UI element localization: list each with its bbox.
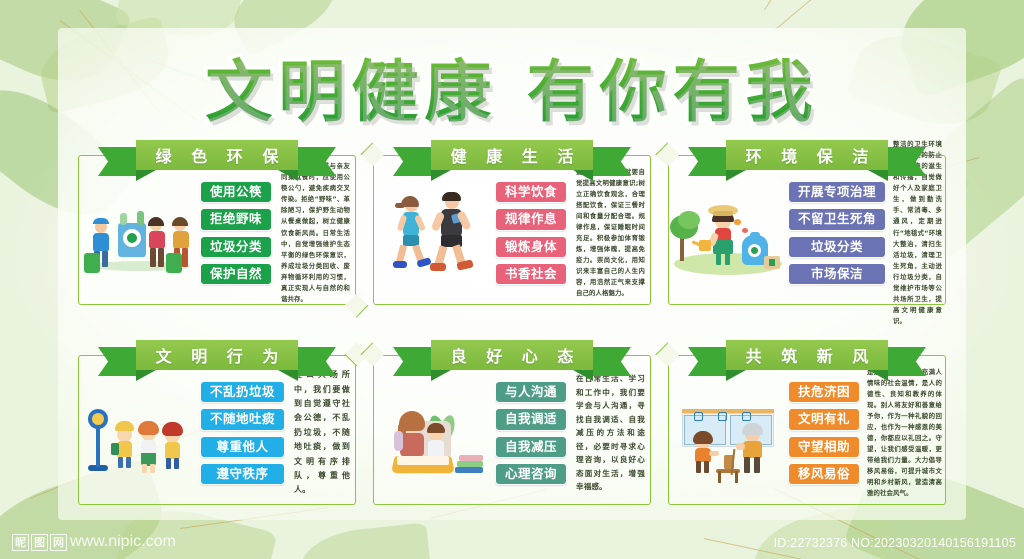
- ribbon-band: 良 好 心 态: [431, 340, 593, 370]
- ribbon-good-mindset: 良 好 心 态: [393, 340, 631, 376]
- children-queueing-icon: [84, 385, 196, 481]
- ribbon-band: 绿 色 环 保: [136, 140, 298, 170]
- ribbon-band: 环 境 保 洁: [726, 140, 888, 170]
- running-couple-icon: [379, 185, 491, 281]
- panel-description: 是道德的种子，是充满人情味的社会温情，是人的德性、良知和教养的体现。别人将友好和…: [867, 367, 942, 499]
- pill-item[interactable]: 遵守秩序: [200, 463, 285, 485]
- panel-title: 健 康 生 活: [444, 143, 581, 167]
- panel-pill-list: 扶危济困 文明有礼 守望相助 移风易俗: [788, 381, 860, 486]
- pill-item[interactable]: 保护自然: [200, 263, 272, 285]
- watermark-url: www.nipic.com: [70, 533, 176, 551]
- pill-item[interactable]: 心理咨询: [495, 463, 567, 485]
- ribbon-civilized-behavior: 文 明 行 为: [98, 340, 336, 376]
- poster-canvas: 文明健康 有你有我 文明健康 有你有我: [0, 0, 1024, 559]
- girl-watering-tree-icon: [672, 185, 784, 281]
- panel-body: 科学饮食 规律作息 锻炼身体 书香社会 要想身心健康，就要自觉提高文明健康意识;…: [379, 177, 645, 289]
- pill-item[interactable]: 自我调适: [495, 408, 567, 430]
- pill-item[interactable]: 规律作息: [495, 208, 567, 230]
- panel-good-mindset: 与人沟通 自我调适 自我减压 心理咨询 在日常生活、学习和工作中，我们要学会与人…: [373, 355, 651, 505]
- panel-description: 在外单独就餐或与亲友同桌就餐时，应使用公筷公勺，避免疾病交叉传染。拒绝“野味”、…: [281, 161, 350, 304]
- watermark-logo: 昵 图 网: [12, 534, 67, 551]
- helping-elderly-bus-icon: [672, 385, 784, 481]
- ribbon-build-new-trend: 共 筑 新 风: [688, 340, 926, 376]
- panel-pill-list: 不乱扔垃圾 不随地吐痰 尊重他人 遵守秩序: [200, 381, 285, 486]
- page-title: 文明健康 有你有我: [205, 38, 818, 135]
- pill-item[interactable]: 自我减压: [495, 436, 567, 458]
- panel-green-environment: 使用公筷 拒绝野味 垃圾分类 保护自然 在外单独就餐或与亲友同桌就餐时，应使用公…: [78, 155, 356, 305]
- ribbon-healthy-living: 健 康 生 活: [393, 140, 631, 176]
- pill-item[interactable]: 不留卫生死角: [788, 208, 886, 230]
- pill-item[interactable]: 垃圾分类: [788, 236, 886, 258]
- pill-item[interactable]: 与人沟通: [495, 381, 567, 403]
- panel-title: 绿 色 环 保: [149, 143, 286, 167]
- pill-item[interactable]: 科学饮食: [495, 181, 567, 203]
- pill-item[interactable]: 移风易俗: [788, 463, 860, 485]
- panel-description: 要想身心健康，就要自觉提高文明健康意识;树立正确饮食观念，合理搭配饮食，保证三餐…: [576, 167, 645, 299]
- watermark-char: 网: [50, 534, 67, 551]
- pill-item[interactable]: 锻炼身体: [495, 236, 567, 258]
- panel-body: 扶危济困 文明有礼 守望相助 移风易俗 是道德的种子，是充满人情味的社会温情，是…: [672, 377, 942, 489]
- ribbon-band: 健 康 生 活: [431, 140, 593, 170]
- pill-item[interactable]: 市场保洁: [788, 263, 886, 285]
- ribbon-band: 共 筑 新 风: [726, 340, 888, 370]
- panel-pill-list: 与人沟通 自我调适 自我减压 心理咨询: [495, 381, 567, 486]
- pill-item[interactable]: 使用公筷: [200, 181, 272, 203]
- pill-item[interactable]: 开展专项治理: [788, 181, 886, 203]
- pill-item[interactable]: 拒绝野味: [200, 208, 272, 230]
- poster-title-area: 文明健康 有你有我 文明健康 有你有我: [0, 38, 1024, 135]
- panel-title: 文 明 行 为: [149, 343, 286, 367]
- pill-item[interactable]: 不乱扔垃圾: [200, 381, 285, 403]
- panel-pill-list: 科学饮食 规律作息 锻炼身体 书香社会: [495, 181, 567, 286]
- twig-decor: [774, 0, 913, 31]
- ribbon-environment-cleaning: 环 境 保 洁: [688, 140, 926, 176]
- panel-civilized-behavior: 不乱扔垃圾 不随地吐痰 尊重他人 遵守秩序 在公共场所中，我们要做到自觉遵守社会…: [78, 355, 356, 505]
- watermark-char: 图: [31, 534, 48, 551]
- panel-description: 在日常生活、学习和工作中，我们要学会与人沟通，寻找自我调适、自我减压的方法和途径…: [576, 372, 645, 494]
- panel-body: 使用公筷 拒绝野味 垃圾分类 保护自然 在外单独就餐或与亲友同桌就餐时，应使用公…: [84, 177, 350, 289]
- panel-body: 与人沟通 自我调适 自我减压 心理咨询 在日常生活、学习和工作中，我们要学会与人…: [379, 377, 645, 489]
- pill-item[interactable]: 文明有礼: [788, 408, 860, 430]
- panel-pill-list: 开展专项治理 不留卫生死角 垃圾分类 市场保洁: [788, 181, 886, 286]
- pill-item[interactable]: 垃圾分类: [200, 236, 272, 258]
- pill-item[interactable]: 不随地吐痰: [200, 408, 285, 430]
- watermark-char: 昵: [12, 534, 29, 551]
- panel-body: 开展专项治理 不留卫生死角 垃圾分类 市场保洁 整洁的卫生环境可以有效的防止细菌…: [672, 177, 942, 289]
- panel-body: 不乱扔垃圾 不随地吐痰 尊重他人 遵守秩序 在公共场所中，我们要做到自觉遵守社会…: [84, 377, 350, 489]
- leaf-decor: [297, 522, 434, 559]
- panel-pill-list: 使用公筷 拒绝野味 垃圾分类 保护自然: [200, 181, 272, 286]
- pill-item[interactable]: 尊重他人: [200, 436, 285, 458]
- panel-title: 共 筑 新 风: [739, 343, 876, 367]
- panel-build-new-trend: 扶危济困 文明有礼 守望相助 移风易俗 是道德的种子，是充满人情味的社会温情，是…: [668, 355, 946, 505]
- panel-title: 环 境 保 洁: [739, 143, 876, 167]
- panel-environment-cleaning: 开展专项治理 不留卫生死角 垃圾分类 市场保洁 整洁的卫生环境可以有效的防止细菌…: [668, 155, 946, 305]
- pill-item[interactable]: 书香社会: [495, 263, 567, 285]
- recycling-volunteers-icon: [84, 185, 196, 281]
- ribbon-band: 文 明 行 为: [136, 340, 298, 370]
- mother-reading-child-icon: [379, 385, 491, 481]
- pill-item[interactable]: 扶危济困: [788, 381, 860, 403]
- ribbon-green-environment: 绿 色 环 保: [98, 140, 336, 176]
- image-id-tag: ID:22732376 NO:20230320140156191105: [774, 536, 1016, 550]
- panel-title: 良 好 心 态: [444, 343, 581, 367]
- pill-item[interactable]: 守望相助: [788, 436, 860, 458]
- panel-description: 在公共场所中，我们要做到自觉遵守社会公德，不乱扔垃圾，不随地吐痰，做到文明有序排…: [294, 368, 350, 498]
- panel-healthy-living: 科学饮食 规律作息 锻炼身体 书香社会 要想身心健康，就要自觉提高文明健康意识;…: [373, 155, 651, 305]
- watermark: 昵 图 网 www.nipic.com: [12, 533, 176, 551]
